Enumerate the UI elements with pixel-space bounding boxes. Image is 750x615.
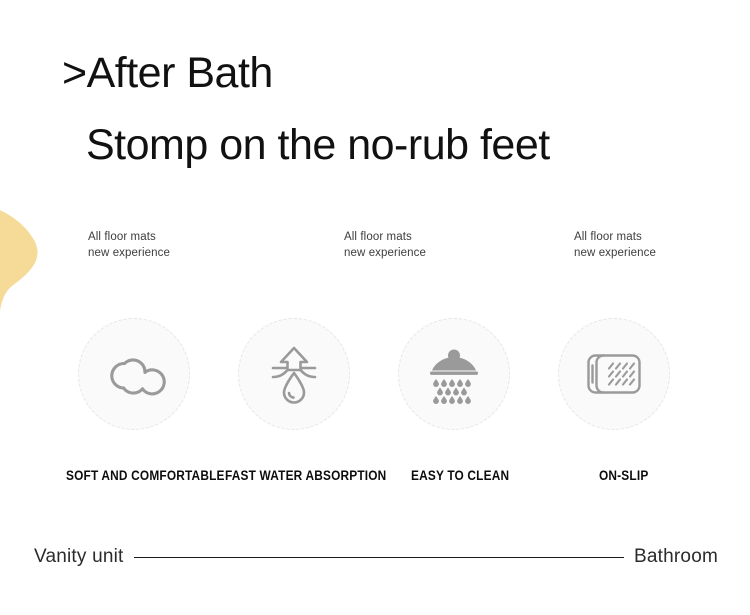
- subtitle-line-1: All floor mats: [88, 230, 170, 246]
- footer-bar: Vanity unit Bathroom: [34, 540, 718, 574]
- headline-line-2: Stomp on the no-rub feet: [86, 116, 732, 174]
- icon-circle: [398, 318, 510, 430]
- feature-caption: FAST WATER ABSORPTION: [225, 468, 386, 483]
- absorption-icon: [260, 340, 328, 408]
- feature-caption-row: SOFT AND COMFORTABLE FAST WATER ABSORPTI…: [66, 468, 726, 488]
- icon-circle: [558, 318, 670, 430]
- cloud-icon: [100, 340, 168, 408]
- subtitle-row: All floor mats new experience All floor …: [88, 230, 708, 270]
- footer-divider-rule: [134, 557, 625, 558]
- poster-canvas: >After Bath Stomp on the no-rub feet All…: [0, 0, 750, 615]
- decorative-blob-shape: [0, 196, 46, 348]
- feature-item-easy-to-clean: [398, 318, 510, 430]
- icon-circle: [78, 318, 190, 430]
- feature-caption: ON-SLIP: [599, 468, 648, 483]
- subtitle-line-2: new experience: [88, 246, 170, 262]
- feature-icon-row: [78, 318, 682, 434]
- footer-left-label: Vanity unit: [34, 546, 124, 568]
- subtitle-line-2: new experience: [574, 246, 656, 262]
- subtitle-block: All floor mats new experience: [344, 230, 426, 261]
- subtitle-line-2: new experience: [344, 246, 426, 262]
- subtitle-line-1: All floor mats: [574, 230, 656, 246]
- feature-caption: EASY TO CLEAN: [411, 468, 509, 483]
- headline-group: >After Bath Stomp on the no-rub feet: [62, 44, 732, 174]
- mat-icon: [580, 340, 648, 408]
- feature-item-on-slip: [558, 318, 670, 430]
- feature-item-fast-water-absorption: [238, 318, 350, 430]
- subtitle-line-1: All floor mats: [344, 230, 426, 246]
- shower-icon: [420, 340, 488, 408]
- subtitle-block: All floor mats new experience: [574, 230, 656, 261]
- feature-caption: SOFT AND COMFORTABLE: [66, 468, 225, 483]
- headline-line-1: >After Bath: [62, 44, 732, 102]
- subtitle-block: All floor mats new experience: [88, 230, 170, 261]
- feature-item-soft-and-comfortable: [78, 318, 190, 430]
- icon-circle: [238, 318, 350, 430]
- footer-right-label: Bathroom: [634, 546, 718, 568]
